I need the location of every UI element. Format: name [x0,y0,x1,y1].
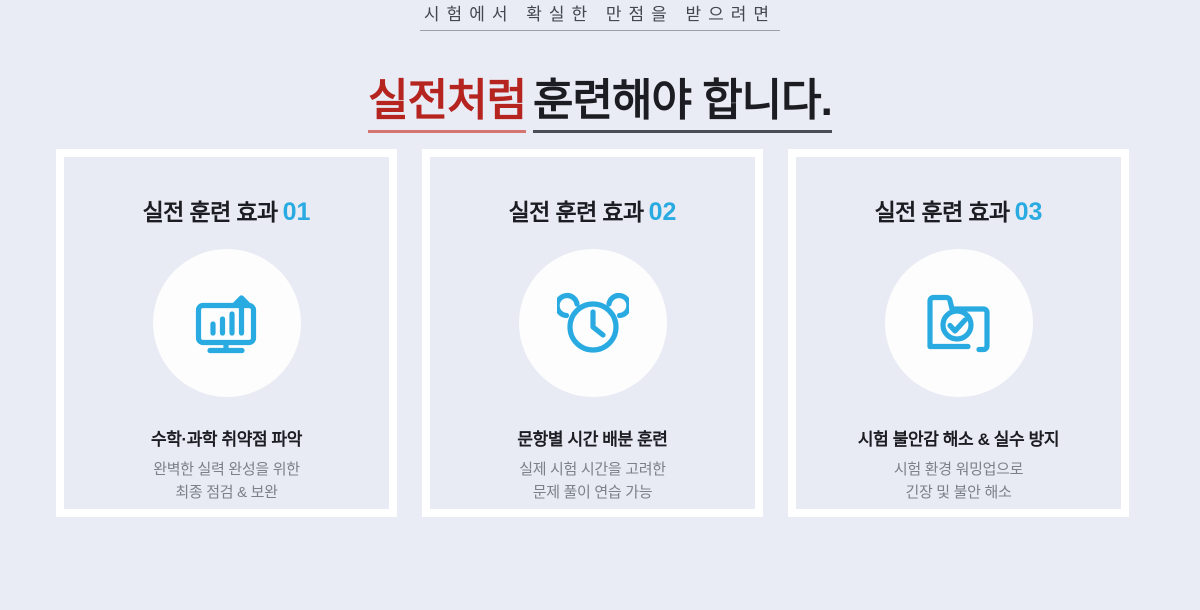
card-heading: 문항별 시간 배분 훈련 [517,431,667,448]
icon-circle [153,249,301,397]
monitor-bar-chart-growth-icon [189,288,265,358]
alarm-clock-icon [557,287,629,359]
card-title-label: 실전 훈련 효과 [875,199,1010,225]
card-number: 02 [649,198,677,226]
card-description: 실제 시험 시간을 고려한 문제 풀이 연습 가능 [519,459,666,504]
page-title: 실전처럼훈련해야 합니다. [368,75,832,127]
headline-highlight: 실전처럼 [368,76,526,133]
eyebrow-wrapper: 시험에서 확실한 만점을 받으려면 [0,6,1200,31]
eyebrow-text: 시험에서 확실한 만점을 받으려면 [420,6,780,31]
card-title: 실전 훈련 효과03 [875,200,1043,225]
folder-check-icon [921,290,997,356]
card-title-label: 실전 훈련 효과 [509,199,644,225]
effect-card: 실전 훈련 효과01 수학·과학 취약점 파악 완벽한 실력 완성을 위한 최종… [56,149,397,517]
card-description: 시험 환경 워밍업으로 긴장 및 불안 해소 [894,459,1023,504]
card-heading: 시험 불안감 해소 & 실수 방지 [858,431,1059,448]
effect-card-list: 실전 훈련 효과01 수학·과학 취약점 파악 완벽한 실력 완성을 위한 최종… [56,149,1129,517]
headline-rest: 훈련해야 합니다. [533,76,832,133]
headline-wrapper: 실전처럼훈련해야 합니다. [0,46,1200,157]
card-title: 실전 훈련 효과01 [143,200,311,225]
effect-card: 실전 훈련 효과03 시험 불안감 해소 & 실수 방지 시험 환경 워밍업으로… [788,149,1129,517]
card-title: 실전 훈련 효과02 [509,200,677,225]
effect-card: 실전 훈련 효과02 문항별 시간 배분 훈련 실제 시험 시간을 고려한 문제… [422,149,763,517]
card-heading: 수학·과학 취약점 파악 [151,431,302,448]
card-description: 완벽한 실력 완성을 위한 최종 점검 & 보완 [153,459,300,504]
card-number: 03 [1015,198,1043,226]
page-header: 시험에서 확실한 만점을 받으려면 실전처럼훈련해야 합니다. [0,0,1200,157]
icon-circle [885,249,1033,397]
card-number: 01 [283,198,311,226]
icon-circle [519,249,667,397]
card-title-label: 실전 훈련 효과 [143,199,278,225]
